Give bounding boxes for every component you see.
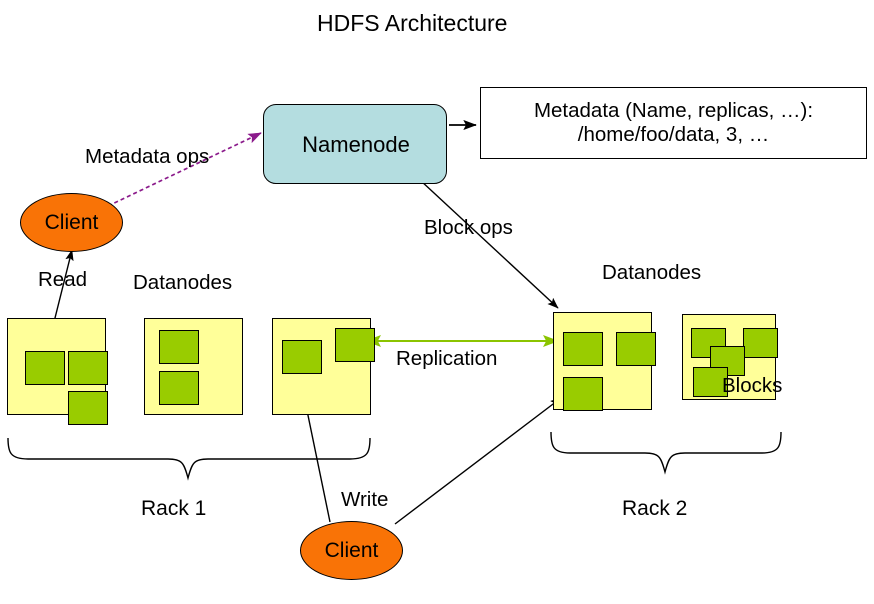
block [335, 328, 375, 362]
datanodes-label-left: Datanodes [133, 271, 232, 295]
datanodes-label-right: Datanodes [602, 261, 701, 285]
client-bottom-label: Client [325, 539, 379, 563]
client-top-label: Client [45, 211, 99, 235]
block [159, 330, 199, 364]
datanode-2[interactable] [144, 318, 243, 415]
block [743, 328, 778, 358]
rack1-brace [8, 438, 370, 478]
block [563, 332, 603, 366]
namenode-label: Namenode [264, 132, 448, 158]
read-label: Read [38, 268, 87, 292]
rack2-label: Rack 2 [622, 497, 687, 521]
write-label: Write [341, 488, 388, 512]
client-node-bottom[interactable]: Client [300, 521, 403, 580]
client-node-top[interactable]: Client [20, 193, 123, 252]
hdfs-architecture-diagram: HDFS Architecture [0, 0, 874, 604]
metadata-box: Metadata (Name, replicas, …): /home/foo/… [480, 87, 867, 159]
block-ops-label: Block ops [424, 216, 513, 240]
block [68, 391, 108, 425]
metadata-line-1: Metadata (Name, replicas, …): [534, 99, 813, 123]
metadata-ops-label: Metadata ops [85, 145, 209, 169]
block [68, 351, 108, 385]
blocks-label: Blocks [722, 374, 782, 398]
metadata-line-2: /home/foo/data, 3, … [578, 123, 769, 147]
datanode-4[interactable] [553, 312, 652, 410]
block [282, 340, 322, 374]
block [616, 332, 656, 366]
datanode-1[interactable] [7, 318, 106, 415]
block [159, 371, 199, 405]
rack2-brace [551, 432, 781, 472]
block [25, 351, 65, 385]
write-arrow-right [395, 398, 561, 524]
replication-label: Replication [396, 347, 497, 371]
page-title: HDFS Architecture [317, 10, 507, 36]
datanode-3[interactable] [272, 318, 371, 415]
metadata-ops-arrow [108, 133, 261, 206]
namenode-box[interactable]: Namenode [263, 104, 447, 184]
block [563, 377, 603, 411]
rack1-label: Rack 1 [141, 497, 206, 521]
block-ops-arrow [420, 180, 558, 308]
